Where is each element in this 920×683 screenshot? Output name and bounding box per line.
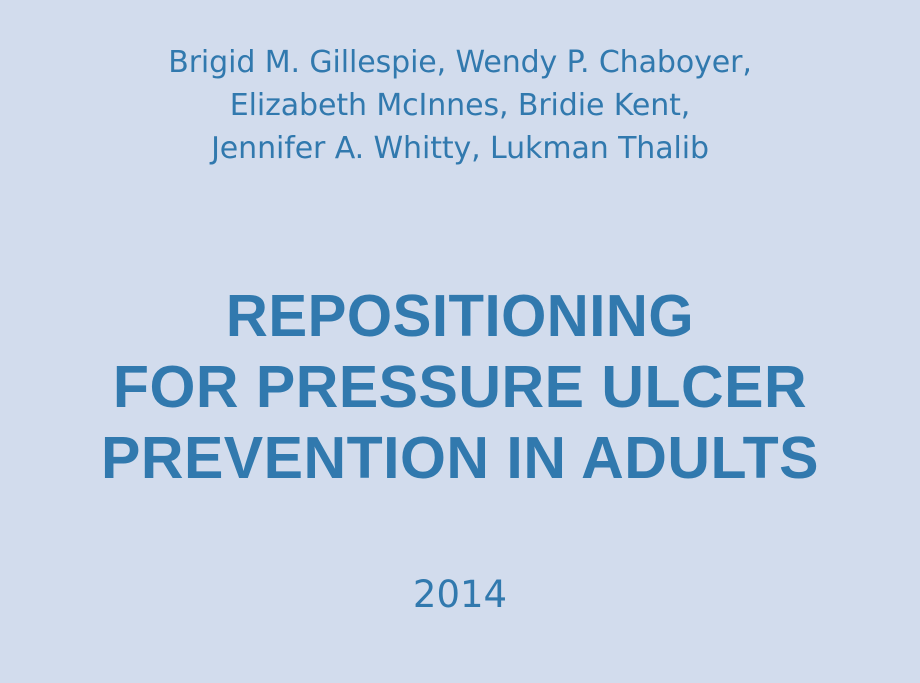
title-line-1: REPOSITIONING xyxy=(7,281,913,352)
author-line-1: Brigid M. Gillespie, Wendy P. Chaboyer, xyxy=(0,41,920,84)
author-line-3: Jennifer A. Whitty, Lukman Thalib xyxy=(0,127,920,170)
publication-year: 2014 xyxy=(0,573,920,617)
title-slide: Brigid M. Gillespie, Wendy P. Chaboyer, … xyxy=(0,0,920,683)
author-line-2: Elizabeth McInnes, Bridie Kent, xyxy=(0,84,920,127)
author-list: Brigid M. Gillespie, Wendy P. Chaboyer, … xyxy=(0,41,920,170)
title-line-3: PREVENTION IN ADULTS xyxy=(0,423,920,494)
page-title: REPOSITIONING FOR PRESSURE ULCER PREVENT… xyxy=(0,281,920,494)
title-line-2: FOR PRESSURE ULCER xyxy=(0,352,920,423)
